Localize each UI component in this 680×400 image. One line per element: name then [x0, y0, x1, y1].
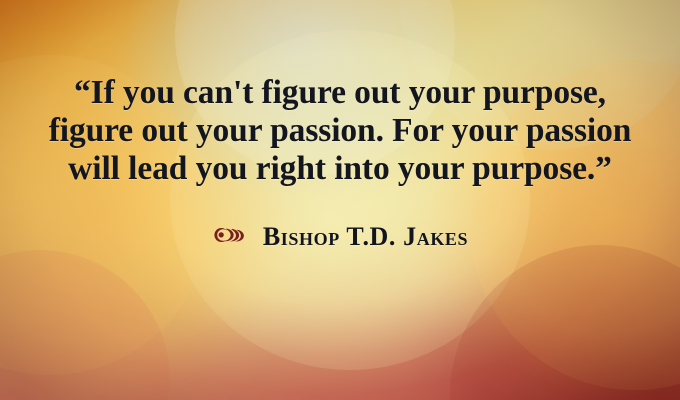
author-name: Bishop T.D. Jakes — [263, 222, 468, 252]
content-layer: “If you can't figure out your purpose, f… — [0, 0, 680, 400]
attribution: Bishop T.D. Jakes — [212, 222, 468, 252]
quote-card: “If you can't figure out your purpose, f… — [0, 0, 680, 400]
quote-text: “If you can't figure out your purpose, f… — [0, 74, 680, 188]
fleuron-swirl-icon — [212, 225, 252, 250]
